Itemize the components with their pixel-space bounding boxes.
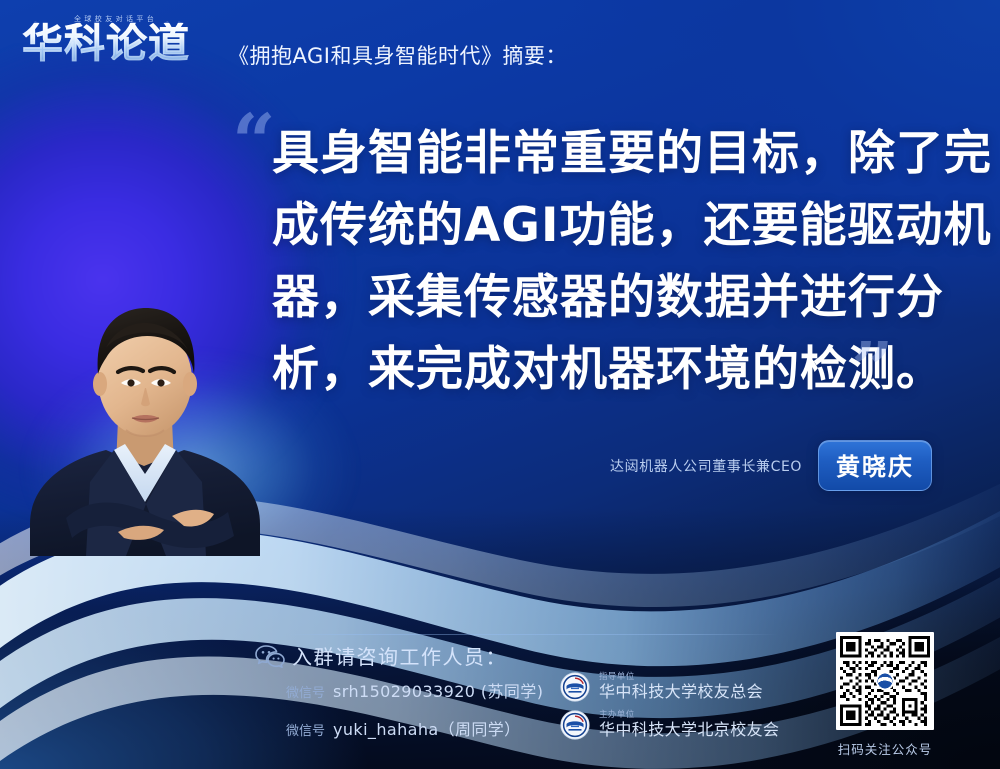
- speaker-portrait: [22, 288, 268, 556]
- footer-divider: [286, 634, 778, 635]
- organization-kind: 指导单位: [599, 673, 763, 682]
- speaker-name-badge: 黄晓庆: [818, 440, 932, 491]
- quote-close-mark: ”: [851, 333, 894, 407]
- wechat-contact-row: 微信号 yuki_hahaha（周同学）: [286, 716, 521, 740]
- quote-open-mark: “: [232, 104, 276, 180]
- qr-section: 扫码关注公众号: [836, 632, 934, 758]
- speaker-role: 达闼机器人公司董事长兼CEO: [610, 456, 802, 476]
- quote-text: 具身智能非常重要的目标，除了完 成传统的AGI功能，还要能驱动机 器，采集传感器…: [272, 118, 944, 406]
- organization-name: 华中科技大学北京校友会: [599, 722, 779, 739]
- wechat-label: 微信号: [286, 682, 325, 701]
- poster-root: 全球校友对话平台 华科论道 《拥抱AGI和具身智能时代》摘要： “ 具身智能非常…: [0, 0, 1000, 769]
- organization-name: 华中科技大学校友总会: [599, 684, 763, 701]
- hust-emblem-icon: [560, 710, 590, 740]
- organization-row: 主办单位 华中科技大学北京校友会: [560, 710, 779, 740]
- quote-line: 具身智能非常重要的目标，除了完: [272, 118, 944, 190]
- wechat-contact-row: 微信号 srh15029033920 (苏同学): [286, 678, 543, 702]
- wechat-id[interactable]: yuki_hahaha（周同学）: [333, 716, 521, 740]
- header: 全球校友对话平台 华科论道 《拥抱AGI和具身智能时代》摘要：: [0, 0, 1000, 92]
- wechat-label: 微信号: [286, 720, 325, 739]
- wechat-icon: [255, 644, 285, 670]
- wechat-id[interactable]: srh15029033920 (苏同学): [333, 678, 543, 702]
- organization-row: 指导单位 华中科技大学校友总会: [560, 672, 763, 702]
- qr-code-image[interactable]: [836, 632, 934, 730]
- quote-line: 析，来完成对机器环境的检测。: [272, 334, 944, 406]
- qr-caption: 扫码关注公众号: [836, 739, 934, 758]
- quote-line: 器，采集传感器的数据并进行分: [272, 262, 944, 334]
- page-title: 《拥抱AGI和具身智能时代》摘要：: [228, 40, 567, 70]
- quote-line: 成传统的AGI功能，还要能驱动机: [272, 190, 944, 262]
- brand-logo-text: 华科论道: [22, 23, 190, 64]
- footer-heading: 入群请咨询工作人员：: [292, 641, 507, 670]
- attribution: 达闼机器人公司董事长兼CEO 黄晓庆: [610, 440, 932, 491]
- organization-kind: 主办单位: [599, 711, 779, 720]
- hust-emblem-icon: [560, 672, 590, 702]
- brand-logo[interactable]: 全球校友对话平台 华科论道: [22, 14, 222, 74]
